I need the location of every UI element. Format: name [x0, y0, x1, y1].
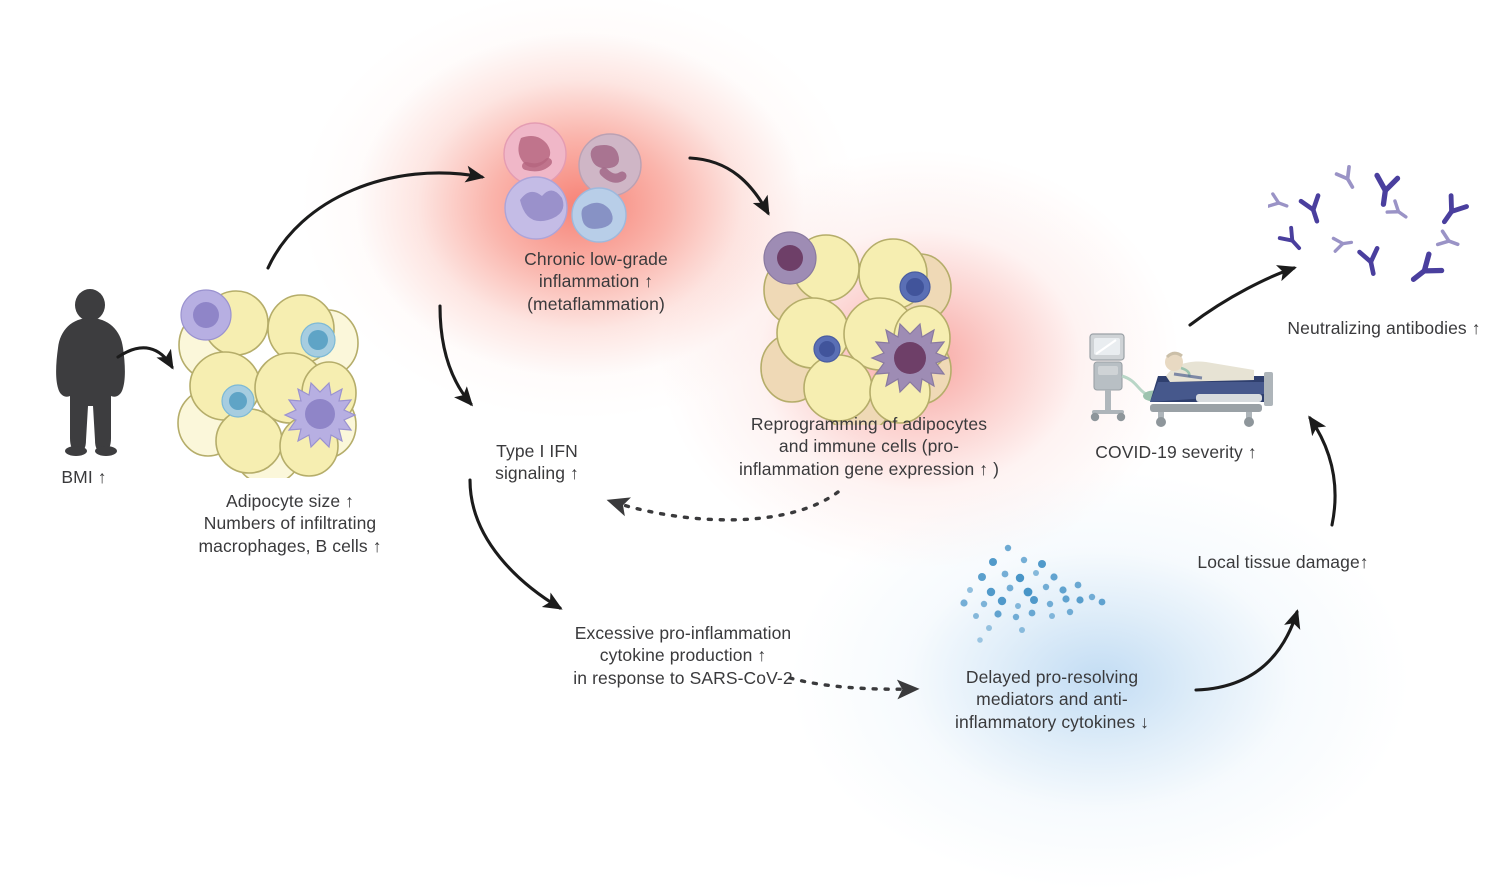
leukocyte-cluster	[488, 118, 668, 243]
neutrophil-icon	[579, 134, 641, 196]
obese-person-silhouette	[36, 288, 146, 456]
b-cell-icon	[301, 323, 335, 357]
macrophage-icon	[181, 290, 231, 340]
hospital-bed-ventilator	[1078, 330, 1278, 430]
b-cell-icon	[222, 385, 254, 417]
edge-reprogramming-to-ifn	[610, 492, 838, 520]
adipocyte-immune-cluster	[748, 230, 963, 425]
edge-inflammation-to-reprogramming	[690, 158, 768, 213]
label-ifn-signaling: Type I IFN signaling ↑	[447, 440, 627, 485]
antibody-cloud	[1268, 152, 1508, 292]
mediator-dot-cloud	[960, 540, 1150, 650]
label-chronic-inflammation: Chronic low-grade inflammation ↑ (metafl…	[466, 248, 726, 315]
edge-mediators-to-damage	[1196, 612, 1297, 690]
neutrophil-icon	[504, 123, 566, 185]
label-covid-severity: COVID-19 severity ↑	[1095, 441, 1256, 463]
monocyte-icon	[505, 177, 567, 239]
macrophage-icon	[764, 232, 816, 284]
lymphocyte-icon	[572, 188, 626, 242]
label-reprogramming: Reprogramming of adipocytes and immune c…	[699, 413, 1039, 480]
label-local-tissue-damage: Local tissue damage↑	[1197, 551, 1368, 573]
b-cell-icon	[814, 336, 840, 362]
diagram-canvas: BMI ↑ Adipocyte size ↑ Numbers of infilt…	[0, 0, 1508, 783]
edge-damage-to-severity	[1310, 418, 1335, 525]
edge-inflammation-to-ifn	[440, 306, 471, 404]
label-bmi: BMI ↑	[61, 466, 106, 488]
label-pro-resolving-mediators: Delayed pro-resolving mediators and anti…	[912, 666, 1192, 733]
label-cytokine-production: Excessive pro-inflammation cytokine prod…	[533, 622, 833, 689]
adipocyte-cluster	[168, 283, 368, 478]
label-adipose-tissue: Adipocyte size ↑ Numbers of infiltrating…	[150, 490, 430, 557]
label-neutralizing-antibodies: Neutralizing antibodies ↑	[1287, 317, 1480, 339]
edge-adipose-to-inflammation	[268, 173, 482, 268]
b-cell-icon	[900, 272, 930, 302]
edge-ifn-to-cytokine	[470, 480, 560, 608]
